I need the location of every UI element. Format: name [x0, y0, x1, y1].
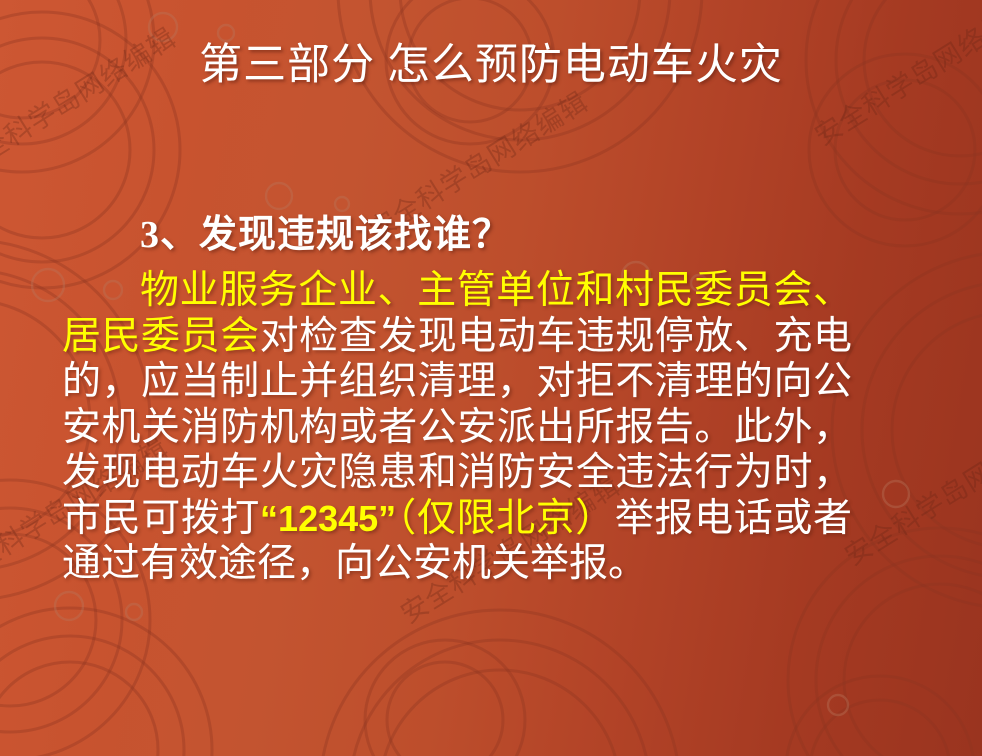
body-paragraph: 物业服务企业、主管单位和村民委员会、居民委员会对检查发现电动车违规停放、充电的，… — [62, 268, 852, 587]
hotline-scope: （仅限北京） — [396, 497, 615, 540]
presentation-slide: 安全科学岛网络编辑安全科学岛网络编辑安全科学岛网络编辑安全科学岛网络编辑安全科学… — [0, 0, 982, 756]
hotline-number: “12345” — [260, 498, 396, 539]
page-title: 第三部分 怎么预防电动车火灾 — [0, 42, 982, 90]
slide-content: 第三部分 怎么预防电动车火灾 3、发现违规该找谁？ 物业服务企业、主管单位和村民… — [0, 0, 982, 756]
section-heading: 3、发现违规该找谁？ — [140, 203, 511, 258]
body-text-block: 物业服务企业、主管单位和村民委员会、居民委员会对检查发现电动车违规停放、充电的，… — [62, 268, 852, 587]
